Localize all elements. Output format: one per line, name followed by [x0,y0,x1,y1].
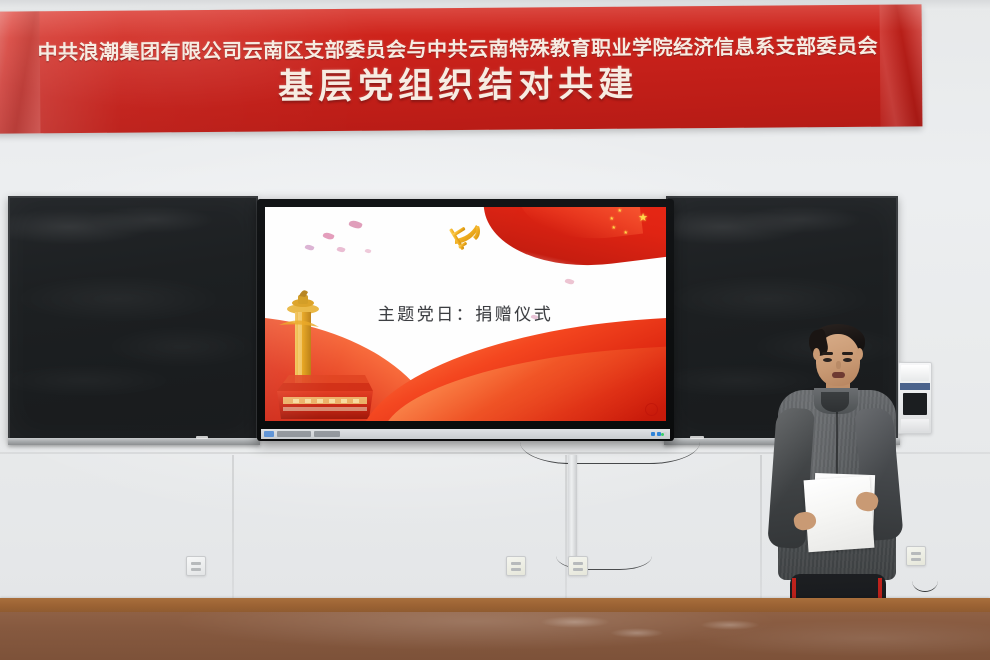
chalk-piece-left[interactable] [196,436,208,439]
windows-taskbar[interactable] [261,429,670,439]
eyebrow-left [822,352,833,355]
ear-left [813,348,820,360]
outlet-cable-far-right [912,566,938,592]
slide-corner-logo [645,403,658,416]
banner-line-1: 中共浪潮集团有限公司云南区支部委员会与中共云南特殊教育职业学院经济信息系支部委员… [38,35,879,64]
red-event-banner: 中共浪潮集团有限公司云南区支部委员会与中共云南特殊教育职业学院经济信息系支部委员… [0,4,922,133]
flag-star-big: ★ [638,213,648,224]
outlet-slot-top [191,562,201,565]
inner-shirt [821,392,849,412]
chalk-piece-right[interactable] [690,436,704,439]
eyebrow-right [842,352,853,355]
left-blackboard [8,196,258,440]
left-chalk-tray [8,438,260,445]
controller-display [903,393,927,415]
flag-star-small-3: ★ [612,226,616,231]
controller-top-vent [901,365,929,381]
taskbar-app-1[interactable] [277,431,311,437]
taskbar-app-2[interactable] [314,431,340,437]
power-outlet-right-2[interactable] [568,556,588,576]
power-slot-top-3 [911,552,921,555]
network-outlet-left[interactable] [186,556,206,576]
banner-line-2: 基层党组织结对共建 [278,65,638,107]
wall-seam-center [565,455,567,615]
start-button[interactable] [264,431,274,437]
floor-scuff-1 [540,616,610,628]
power-slot-bottom-2 [573,568,583,571]
power-slot-top-1 [511,562,521,565]
controller-label-band [900,383,930,390]
mouth [832,372,845,378]
hammer-and-sickle-emblem [446,219,486,257]
tray-icon-1[interactable] [651,432,655,436]
nose [836,361,841,369]
banner-text-block: 中共浪潮集团有限公司云南区支部委员会与中共云南特殊教育职业学院经济信息系支部委员… [0,4,922,133]
classroom-scene: 中共浪潮集团有限公司云南区支部委员会与中共云南特殊教育职业学院经济信息系支部委员… [0,0,990,660]
taskbar-tray[interactable] [651,432,667,436]
controller-base [901,419,929,431]
power-led-indicator [661,433,664,436]
document-sheet-front [804,476,875,552]
flag-star-small-4: ★ [624,231,628,236]
floor-scuff-2 [610,628,664,638]
power-outlet-right-1[interactable] [506,556,526,576]
flag-star-small-1: ★ [618,209,622,214]
power-slot-top-2 [573,562,583,565]
interactive-flat-panel[interactable]: ★ ★ ★ ★ ★ [257,199,674,441]
left-blackboard-chalk-residue [10,198,256,438]
outlet-slot-bottom [191,568,201,571]
floor-scuff-3 [700,620,760,630]
eye-right [843,358,852,362]
flag-star-small-2: ★ [610,217,614,222]
display-cable [520,442,700,464]
slide-title: 主题党日：捐赠仪式 [265,300,666,325]
floor-reflection [0,612,990,660]
power-outlet-far-right[interactable] [906,546,926,566]
wall-seam-right [760,455,762,615]
ear-right [856,348,863,360]
cable-trunking [568,455,577,559]
power-slot-bottom-1 [511,568,521,571]
wall-seam-left [232,455,234,615]
power-slot-bottom-3 [911,558,921,561]
panel-display-area[interactable]: ★ ★ ★ ★ ★ [265,207,666,421]
eye-left [823,358,832,362]
